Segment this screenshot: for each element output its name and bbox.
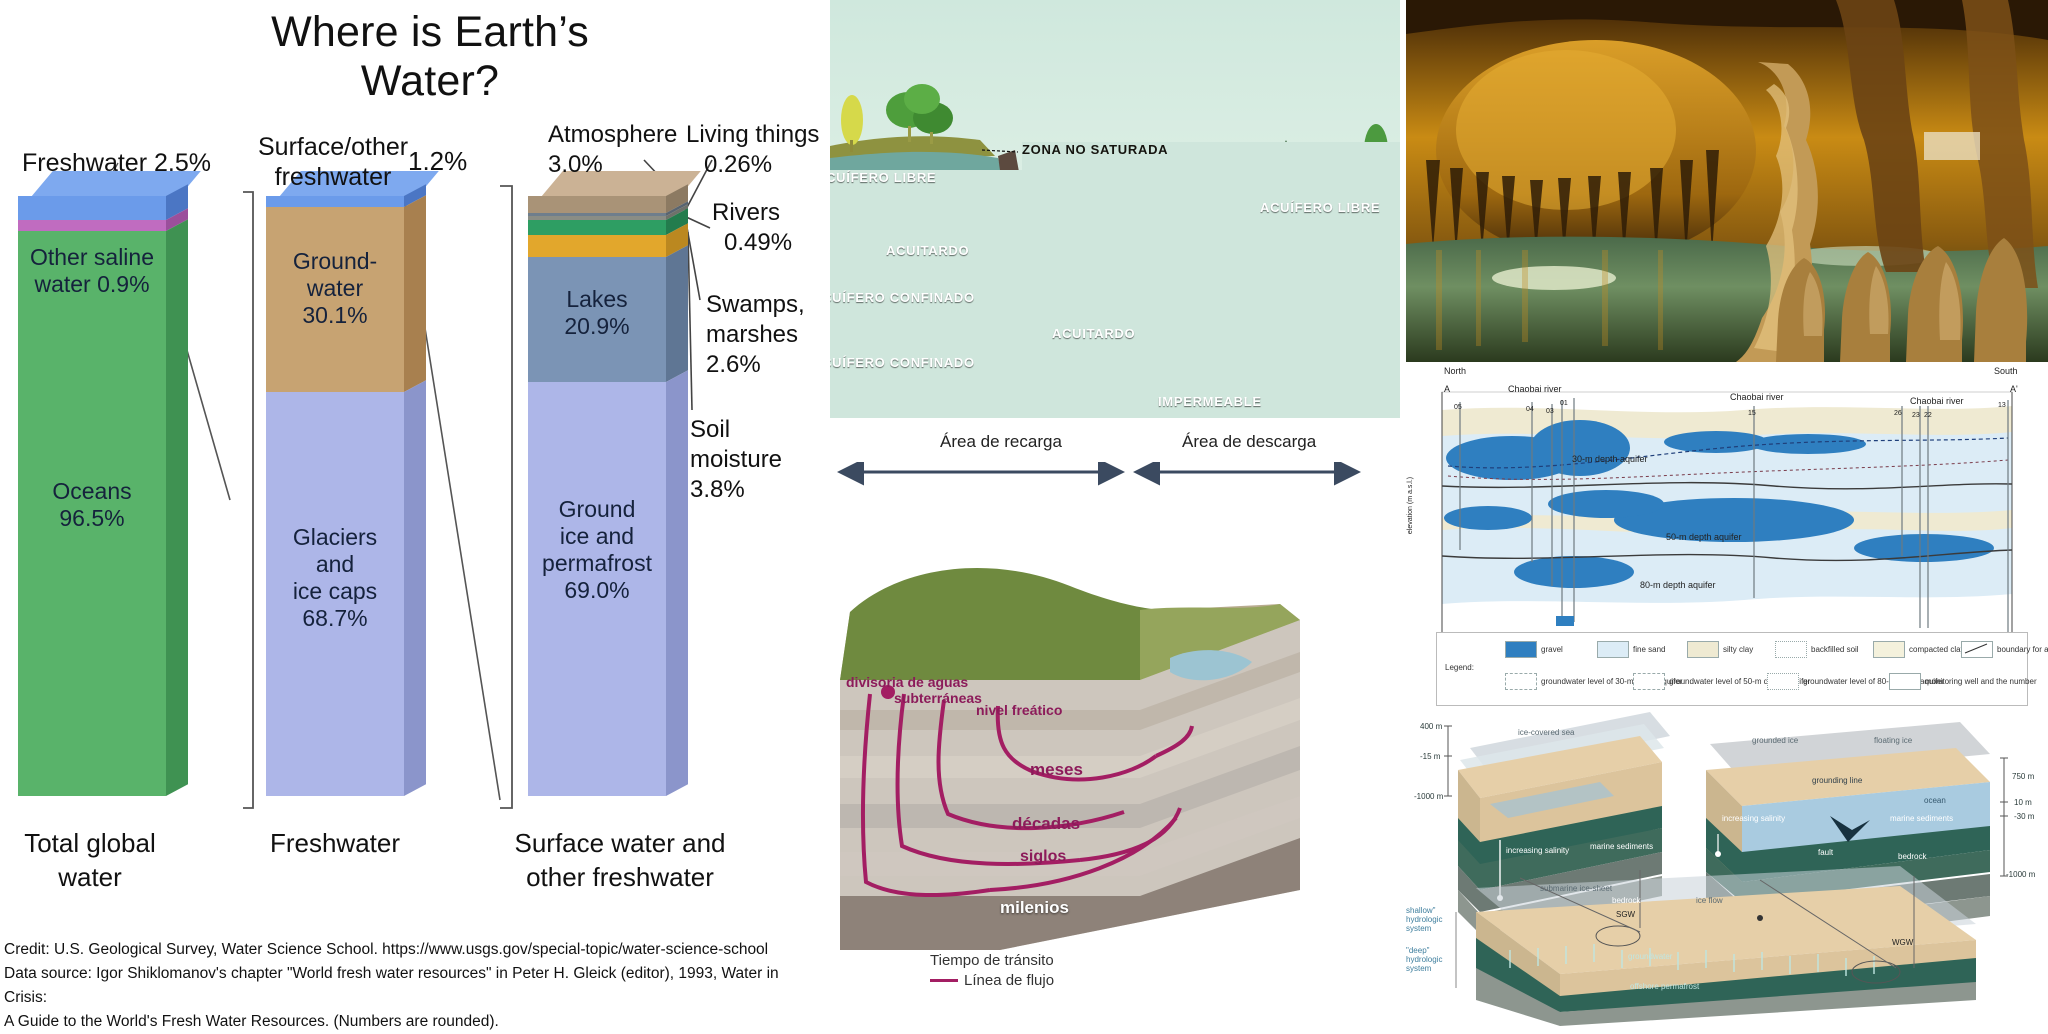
legend-swatch-silty-clay	[1687, 641, 1719, 658]
right-block-depth-30m: -30 m	[2014, 812, 2034, 821]
flow-legend: Tiempo de tránsito Línea de flujo	[930, 952, 1250, 989]
flow-legend-item: Línea de flujo	[930, 972, 1250, 989]
legend-label-silty-clay: silty clay	[1723, 645, 1753, 654]
axis-text: Total global	[24, 828, 156, 858]
left-block-label-increasing-salinity: increasing salinity	[1506, 846, 1569, 855]
bar2-segment-surface-other	[266, 196, 404, 207]
bottom-block-label-submarine-ice-sheet: submarine ice-sheet	[1540, 884, 1612, 893]
flow-label-decadas: décadas	[1012, 814, 1080, 834]
label-area-descarga: Área de descarga	[1182, 432, 1316, 452]
callout-atmosphere: Atmosphere 3.0%	[548, 120, 688, 180]
bar2-segment-groundwater	[266, 207, 404, 392]
axis-text: Surface water and	[514, 828, 725, 858]
axis-label-surface-other: Surface water and other freshwater	[490, 826, 750, 894]
well-number-15: 15	[1748, 410, 1756, 417]
flow-label-meses: meses	[1030, 760, 1083, 780]
right-block-label-fault: fault	[1818, 848, 1833, 857]
callout-soil-moisture: Soil moisture 3.8%	[690, 415, 830, 505]
right-block-label-grounding-line: grounding line	[1812, 776, 1862, 785]
callout-text: freshwater	[275, 163, 392, 191]
legend-swatch-monitoring-well	[1889, 673, 1921, 690]
axis-label-freshwater: Freshwater	[250, 826, 420, 860]
cross-section-aquifer-label-50m: 50-m depth aquifer	[1666, 532, 1742, 542]
well-number-23: 23	[1912, 412, 1920, 419]
well-number-04: 04	[1526, 406, 1534, 413]
legend-swatch-backfilled-soil	[1775, 641, 1807, 658]
bar1-segment-other-saline	[18, 220, 166, 231]
legend-swatch-gwlevel-30m	[1505, 673, 1537, 690]
right-block-depth-10m: 10 m	[2014, 798, 2032, 807]
callout-living-things: Living things 0.26%	[686, 120, 846, 180]
callout-freshwater: Freshwater 2.5%	[22, 150, 242, 176]
well-number-05: 05	[1454, 404, 1462, 411]
bottom-block-label-deep-system: "deep" hydrologic system	[1406, 946, 1460, 973]
blocks-svg	[1400, 700, 2048, 1026]
flow-label-divisoria: divisoria de aguas subterráneas	[846, 674, 982, 706]
cross-section-legend: Legend: gravel fine sand silty clay back…	[1436, 632, 2028, 706]
bar3-segment-swamps-marshes	[528, 220, 666, 235]
credit-line-3: A Guide to the World's Fresh Water Resou…	[4, 1010, 824, 1034]
left-block-label-ice-covered-sea: ice-covered sea	[1518, 728, 1574, 737]
legend-label-boundary: boundary for aquifers	[1997, 645, 2048, 654]
cross-section-orientation-north: North	[1444, 366, 1466, 376]
right-block-label-floating-ice: floating ice	[1874, 736, 1912, 745]
callout-text: 0.26%	[686, 150, 772, 180]
boundary-icon	[1961, 641, 1991, 656]
callout-text: marshes	[706, 321, 798, 348]
bottom-block-label-shallow-system: shallow" hydrologic system	[1406, 906, 1460, 933]
legend-swatch-gwlevel-50m	[1633, 673, 1665, 690]
legend-label-gwlevel-80m: groundwater level of 80-m depth aquifer	[1803, 677, 1944, 686]
callout-text: Surface/other	[258, 133, 408, 161]
label-area-recarga: Área de recarga	[940, 432, 1062, 452]
axis-text: other freshwater	[526, 862, 714, 892]
left-block-label-marine-sediments: marine sediments	[1590, 842, 1653, 851]
bottom-block-label-ice-flow: ice flow	[1696, 896, 1723, 905]
groundwater-flow-block-diagram: divisoria de aguas subterráneas nivel fr…	[840, 560, 1300, 950]
bar3-segment-soil-moisture	[528, 235, 666, 257]
well-number-01: 01	[1560, 400, 1568, 407]
callout-text: 2.6%	[706, 351, 761, 378]
callout-text: Atmosphere	[548, 121, 677, 148]
bar1-segment-freshwater	[18, 196, 166, 220]
bar3-segment-atmosphere	[528, 196, 666, 213]
flow-label-milenios: milenios	[1000, 898, 1069, 918]
callout-text: Swamps,	[706, 291, 805, 318]
axis-text: Freshwater	[270, 828, 400, 858]
legend-swatch-fine-sand	[1597, 641, 1629, 658]
bar3-segment-lakes	[528, 257, 666, 382]
bar3-segment-ground-ice-permafrost	[528, 382, 666, 796]
aquifer-label-impermeable: IMPERMEABLE	[1158, 394, 1400, 418]
legend-swatch-gravel	[1505, 641, 1537, 658]
usgs-water-distribution-chart: Where is Earth’s Water?	[0, 0, 830, 1026]
legend-title: Legend:	[1445, 663, 1474, 672]
callout-text: Rivers	[712, 199, 780, 226]
callout-text: Living things	[686, 121, 819, 148]
aquifer-cross-section-diagram: ZONA NO SATURADA MANANTIAL ACUÍFERO LIBR…	[830, 0, 1400, 418]
flow-label-nivel-freatico: nivel freático	[976, 702, 1062, 718]
right-block-label-increasing-salinity: increasing salinity	[1722, 814, 1785, 823]
flow-line-swatch	[930, 979, 958, 982]
left-block-label-bedrock: bedrock	[1612, 896, 1640, 905]
legend-swatch-compacted-clay	[1873, 641, 1905, 658]
flow-legend-item-label: Línea de flujo	[964, 972, 1054, 989]
subglacial-groundwater-block-diagrams: 400 m -15 m -1000 m increasing salinity …	[1400, 700, 2048, 1026]
right-block-label-grounded-ice: grounded ice	[1752, 736, 1798, 745]
cross-section-aquifer-label-80m: 80-m depth aquifer	[1640, 580, 1716, 590]
slide-canvas: Where is Earth’s Water?	[0, 0, 2048, 1026]
callout-text: 0.49%	[712, 228, 792, 258]
legend-label-monitoring-well: monitoring well and the number	[1925, 677, 2037, 686]
cross-section-river-label-3: Chaobai river	[1910, 396, 1964, 406]
label-text: divisoria de aguas	[846, 674, 968, 690]
left-block-depth-15m: -15 m	[1420, 752, 1440, 761]
credit-line-1: Credit: U.S. Geological Survey, Water Sc…	[4, 938, 824, 962]
bottom-block-label-wgw: WGW	[1892, 938, 1913, 947]
callout-text: Soil	[690, 416, 730, 443]
callout-text: 3.0%	[548, 151, 603, 178]
bottom-block-label-offshore-permafrost: offshore permafrost	[1630, 982, 1699, 991]
callout-swamps-marshes: Swamps, marshes 2.6%	[706, 290, 846, 380]
cross-section-marker-a: A	[1444, 384, 1450, 394]
flow-block-svg	[840, 560, 1300, 950]
axis-label-total-global-water: Total global water	[0, 826, 180, 894]
middle-panel: ZONA NO SATURADA MANANTIAL ACUÍFERO LIBR…	[830, 0, 1400, 1026]
bar-surface-and-other-freshwater[interactable]: Lakes 20.9% Ground ice and permafrost 69…	[528, 196, 666, 796]
flow-label-siglos: siglos	[1020, 848, 1066, 866]
legend-label-fine-sand: fine sand	[1633, 645, 1665, 654]
cross-section-marker-a-prime: A'	[2010, 384, 2018, 394]
right-block-depth-750m: 750 m	[2012, 772, 2034, 781]
bar-total-global-water[interactable]: Other saline water 0.9% Oceans 96.5%	[18, 196, 166, 796]
cross-section-river-label-2: Chaobai river	[1730, 392, 1784, 402]
bar2-segment-glaciers	[266, 392, 404, 796]
recharge-discharge-bar: Área de recarga Área de descarga	[830, 418, 1400, 498]
right-block-depth-1000m: -1000 m	[2006, 870, 2035, 879]
credit-block: Credit: U.S. Geological Survey, Water Sc…	[4, 938, 824, 1034]
left-block-depth-400m: 400 m	[1420, 722, 1442, 731]
well-number-03: 03	[1546, 408, 1554, 415]
right-block-label-marine-sediments: marine sediments	[1890, 814, 1953, 823]
label-text: subterráneas	[846, 690, 982, 706]
right-block-label-bedrock: bedrock	[1898, 852, 1926, 861]
right-panel: North South A A' elevation (m a.s.l.) Ch…	[1400, 0, 2048, 1026]
cross-section-river-label-1: Chaobai river	[1508, 384, 1562, 394]
cross-section-ylabel: elevation (m a.s.l.)	[1407, 477, 1414, 534]
cross-section-svg	[1404, 380, 2048, 660]
well-number-22: 22	[1924, 412, 1932, 419]
callout-text: Freshwater 2.5%	[22, 149, 211, 177]
bottom-block-label-sgw: SGW	[1616, 910, 1635, 919]
legend-label-backfilled-soil: backfilled soil	[1811, 645, 1859, 654]
legend-label-compacted-clay: compacted clay	[1909, 645, 1965, 654]
callout-text: 1.2%	[408, 146, 467, 176]
right-block-label-ocean: ocean	[1924, 796, 1946, 805]
page-title: Where is Earth’s Water?	[200, 8, 660, 106]
bar1-segment-oceans	[18, 231, 166, 796]
cave-photo-art	[1406, 0, 2048, 362]
cross-section-aquifer-label-30m: 30-m depth aquifer	[1572, 454, 1648, 464]
well-number-13: 13	[1998, 402, 2006, 409]
left-block-depth-1000m: -1000 m	[1414, 792, 1443, 801]
callout-surface-other-pct: 1.2%	[408, 148, 467, 174]
callout-text: 3.8%	[690, 476, 745, 503]
legend-swatch-gwlevel-80m	[1767, 673, 1799, 690]
bar-freshwater[interactable]: Ground- water 30.1% Glaciers and ice cap…	[266, 196, 404, 796]
flow-legend-title: Tiempo de tránsito	[930, 952, 1250, 969]
callout-text: moisture	[690, 446, 782, 473]
cross-section-orientation-south: South	[1994, 366, 2018, 376]
arrow-icons	[830, 462, 1400, 502]
legend-label-gravel: gravel	[1541, 645, 1563, 654]
bottom-block-label-groundwater: groundwater	[1628, 952, 1672, 961]
credit-line-2: Data source: Igor Shiklomanov's chapter …	[4, 962, 824, 1010]
callout-surface-other-freshwater: Surface/other freshwater	[258, 132, 408, 192]
cave-photo	[1406, 0, 2048, 362]
well-number-26: 26	[1894, 410, 1902, 417]
axis-text: water	[58, 862, 122, 892]
